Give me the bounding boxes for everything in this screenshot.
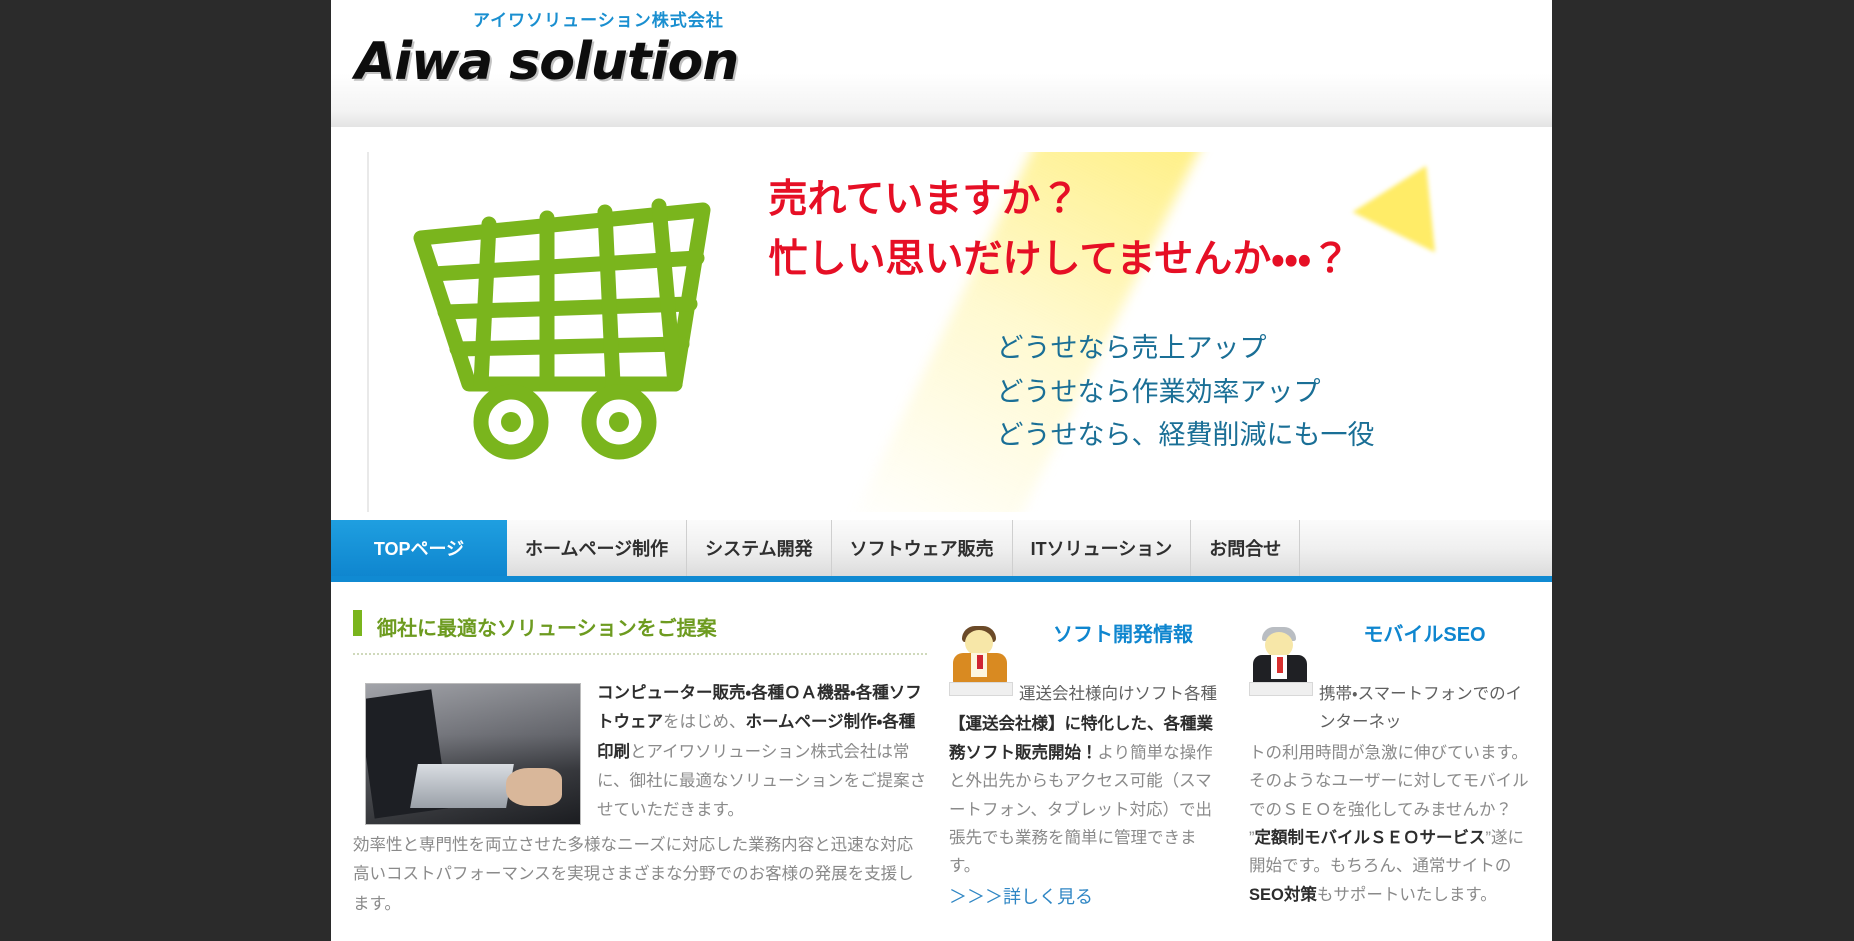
middle-column-lead: 運送会社様向けソフト各種 <box>1019 680 1227 708</box>
right-body-text-3: もちろん、通常サイトの <box>1330 857 1512 875</box>
brand-kana-name: アイワソリューション株式会社 <box>473 6 738 31</box>
right-column-title: モバイルSEO <box>1319 612 1530 647</box>
hero-copy: 売れていますか？ 忙しい思いだけしてませんか・・・？ どうせなら売上アップ どう… <box>769 170 1509 458</box>
right-column-lead: 携帯・スマートフォンでのインターネッ <box>1319 680 1530 737</box>
site-page: アイワソリューション株式会社 Aiwa solution <box>331 0 1552 941</box>
hero-headline-1: 売れていますか？ <box>769 170 1509 230</box>
right-column-body: トの利用時間が急激に伸びています。そのようなユーザーに対してモバイルでのＳＥＯを… <box>1249 739 1530 909</box>
left-para1-text-1: をはじめ、 <box>663 713 746 731</box>
section-title-solution: 御社に最適なソリューションをご提案 <box>353 612 927 655</box>
middle-column-more-link[interactable]: ＞＞＞詳しく見る <box>949 883 1227 909</box>
nav-item-system-development[interactable]: システム開発 <box>687 520 831 576</box>
site-brand[interactable]: アイワソリューション株式会社 Aiwa solution <box>355 6 738 90</box>
left-paragraph-2: 効率性と専門性を両立させた多様なニーズに対応した業務内容と迅速な対応高いコストパ… <box>353 831 927 919</box>
mid-body-text-1: より簡単な操作と外出先からもアクセス可能（スマートフォン、タブレット対応）で出張… <box>949 744 1213 876</box>
site-header: アイワソリューション株式会社 Aiwa solution <box>331 0 1552 127</box>
left-column: 御社に最適なソリューションをご提案 コンピューター販売・各種ＯＡ機器・各種ソフト… <box>353 612 927 919</box>
photo-shape-hand <box>506 768 562 806</box>
person-black-suit-avatar <box>1249 626 1311 694</box>
avatar-tie <box>1277 657 1283 673</box>
nav-item-homepage-production[interactable]: ホームページ制作 <box>507 520 687 576</box>
avatar-desk <box>949 682 1013 696</box>
meeting-photo <box>365 683 581 825</box>
hero-banner: 売れていますか？ 忙しい思いだけしてませんか・・・？ どうせなら売上アップ どう… <box>367 152 1517 512</box>
middle-column: ソフト開発情報 運送会社様向けソフト各種 【運送会社様】に特化した、各種業務ソフ… <box>949 612 1227 919</box>
hero-headline-2: 忙しい思いだけしてませんか・・・？ <box>769 230 1509 290</box>
middle-column-body: 【運送会社様】に特化した、各種業務ソフト販売開始！より簡単な操作と外出先からもア… <box>949 710 1227 880</box>
right-body-text-4: もサポートいたします。 <box>1317 886 1497 904</box>
avatar-tie <box>977 655 983 669</box>
nav-item-software-sales[interactable]: ソフトウェア販売 <box>832 520 1013 576</box>
nav-item-top[interactable]: TOPページ <box>331 520 507 576</box>
avatar-desk <box>1249 682 1313 696</box>
main-navigation: TOPページ ホームページ制作 システム開発 ソフトウェア販売 ITソリューショ… <box>331 520 1552 582</box>
photo-shape-laptop <box>410 764 514 808</box>
left-para1-text-2: とアイワソリューション株式会社は常に、御社に最適なソリューションをご提案させてい… <box>597 743 926 820</box>
brand-logo: Aiwa solution <box>355 35 738 90</box>
shopping-cart-icon <box>407 194 723 464</box>
content-area: 御社に最適なソリューションをご提案 コンピューター販売・各種ＯＡ機器・各種ソフト… <box>331 612 1552 919</box>
nav-item-it-solution[interactable]: ITソリューション <box>1013 520 1192 576</box>
hero-subheadlines: どうせなら売上アップ どうせなら作業効率アップ どうせなら、経費削減にも一役 <box>769 327 1509 458</box>
nav-item-contact[interactable]: お問合せ <box>1191 520 1300 576</box>
right-column: モバイルSEO 携帯・スマートフォンでのインターネッ トの利用時間が急激に伸びて… <box>1249 612 1530 919</box>
right-body-bold-2: SEO対策 <box>1249 886 1317 904</box>
right-body-bold-1: 定額制モバイルＳＥＯサービス <box>1254 829 1485 847</box>
hero-subline-1: どうせなら売上アップ <box>997 327 1509 371</box>
middle-column-title: ソフト開発情報 <box>1019 612 1227 647</box>
left-column-body: コンピューター販売・各種ＯＡ機器・各種ソフトウェアをはじめ、ホームページ制作・各… <box>353 679 927 919</box>
hero-subline-2: どうせなら作業効率アップ <box>997 371 1509 415</box>
hero-subline-3: どうせなら、経費削減にも一役 <box>997 414 1509 458</box>
person-orange-suit-avatar <box>949 626 1011 694</box>
